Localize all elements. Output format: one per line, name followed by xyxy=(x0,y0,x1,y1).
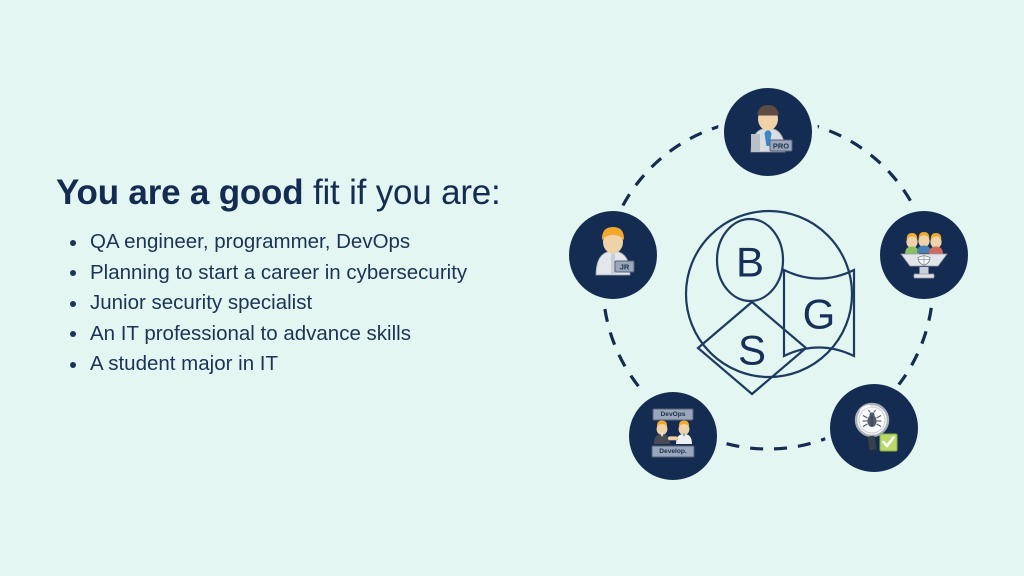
content-pane: You are a good fit if you are: QA engine… xyxy=(56,172,566,380)
list-item-label: An IT professional to advance skills xyxy=(90,322,411,345)
logo-letter-s: S xyxy=(738,327,766,374)
badge-jr-label: JR xyxy=(620,263,630,272)
node-junior-specialist[interactable]: JR xyxy=(569,211,657,299)
list-item: Planning to start a career in cybersecur… xyxy=(56,258,566,289)
node-devops[interactable]: DevOps Develop. xyxy=(629,392,717,480)
qualification-list: QA engineer, programmer, DevOps Planning… xyxy=(56,227,566,380)
node-qa-testing[interactable] xyxy=(830,384,918,472)
node-it-professional[interactable]: PRO xyxy=(724,88,812,176)
list-item-label: A student major in IT xyxy=(90,352,278,375)
logo-letter-b: B xyxy=(736,239,764,286)
list-item: An IT professional to advance skills xyxy=(56,319,566,350)
page-title: You are a good fit if you are: xyxy=(56,172,566,213)
bullet-dot-icon xyxy=(70,331,76,337)
list-item: A student major in IT xyxy=(56,349,566,380)
bullet-dot-icon xyxy=(70,270,76,276)
list-item: Junior security specialist xyxy=(56,288,566,319)
logo-letter-g: G xyxy=(803,291,836,338)
list-item-label: Planning to start a career in cybersecur… xyxy=(90,261,467,284)
badge-pro-label: PRO xyxy=(773,142,789,151)
list-item-label: Junior security specialist xyxy=(90,291,312,314)
list-item-label: QA engineer, programmer, DevOps xyxy=(90,230,410,253)
badge-develop-label: Develop. xyxy=(659,448,687,455)
bullet-dot-icon xyxy=(70,362,76,368)
list-item: QA engineer, programmer, DevOps xyxy=(56,227,566,258)
node-security-team[interactable] xyxy=(880,211,968,299)
badge-devops-label: DevOps xyxy=(661,411,686,418)
bsg-logo: B S G xyxy=(686,211,854,394)
headline-bold: You are a good xyxy=(56,173,303,212)
bullet-dot-icon xyxy=(70,240,76,246)
audience-diagram: B S G PRO xyxy=(556,80,996,500)
headline-light: fit if you are: xyxy=(303,173,500,212)
bullet-dot-icon xyxy=(70,301,76,307)
